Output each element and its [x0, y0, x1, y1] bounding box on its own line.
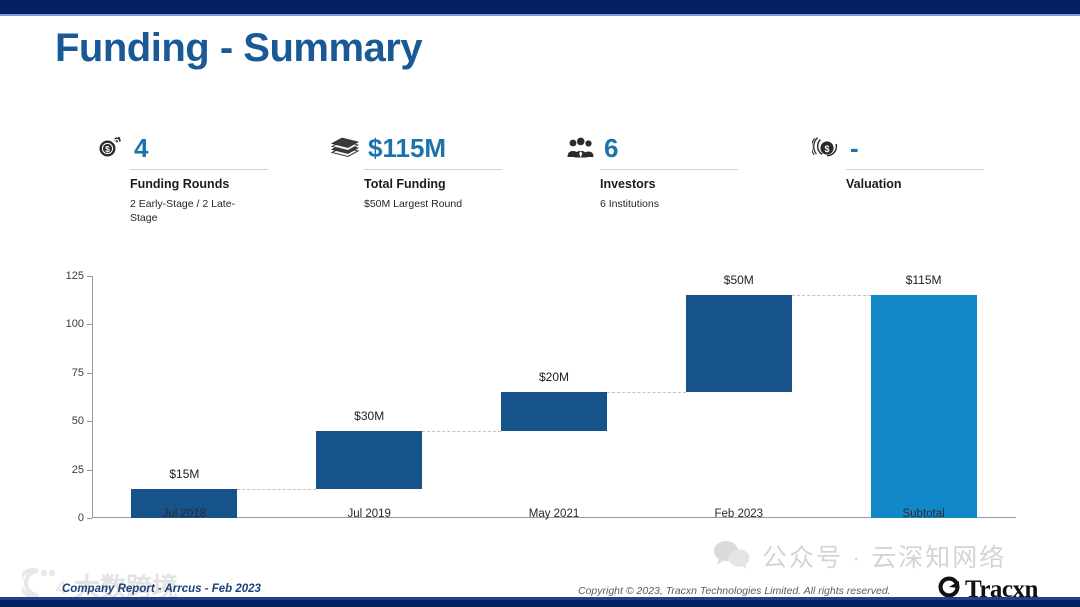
kpi-head: $ - [812, 130, 984, 166]
y-axis-line [92, 276, 93, 518]
wechat-watermark: 公众号 · 云深知网络 [712, 538, 1006, 574]
kpi-valuation: $ - Valuation [812, 130, 984, 197]
chart-bar[interactable] [316, 431, 422, 489]
kpi-funding-rounds: $ 4 Funding Rounds 2 Early-Stage / 2 Lat… [96, 130, 268, 225]
chart-bar-value-label: $20M [539, 370, 569, 384]
gear-dollar-icon: $ [96, 133, 126, 163]
kpi-value: - [850, 135, 859, 161]
x-axis-category-label: Jul 2018 [104, 508, 264, 520]
kpi-head: $115M [330, 130, 502, 166]
kpi-subtext: 2 Early-Stage / 2 Late-Stage [130, 197, 240, 225]
kpi-head: $ 4 [96, 130, 268, 166]
y-axis-tick-label: 125 [66, 270, 84, 282]
kpi-subtext: $50M Largest Round [364, 197, 474, 211]
y-axis-tick [87, 373, 92, 374]
chart-plot-area: 0255075100125$15M$30M$20M$50M$115M [92, 276, 1016, 518]
kpi-label: Investors [600, 177, 738, 191]
investors-people-icon [566, 133, 596, 163]
footer-report-label: Company Report - Arrcus - Feb 2023 [62, 583, 261, 595]
top-navy-band [0, 0, 1080, 14]
waterfall-connector [422, 431, 501, 432]
waterfall-connector [607, 392, 686, 393]
wechat-icon [712, 539, 752, 574]
chart-bar[interactable] [686, 295, 792, 392]
kpi-value: 4 [134, 135, 148, 161]
kpi-label: Valuation [846, 177, 984, 191]
kpi-head: 6 [566, 130, 738, 166]
kpi-subtext: 6 Institutions [600, 197, 710, 211]
kpi-label: Funding Rounds [130, 177, 268, 191]
kpi-divider [130, 169, 268, 170]
x-axis-category-label: Subtotal [844, 508, 1004, 520]
y-axis-tick [87, 276, 92, 277]
y-axis-tick [87, 324, 92, 325]
y-axis-tick-label: 75 [72, 367, 84, 379]
wechat-watermark-text: 公众号 · 云深知网络 [762, 538, 1006, 574]
chart-bar-value-label: $30M [354, 409, 384, 423]
y-axis-tick-label: 25 [72, 464, 84, 476]
kpi-value: $115M [368, 135, 446, 161]
footer-copyright: Copyright © 2023, Tracxn Technologies Li… [578, 585, 891, 597]
y-axis-tick-label: 50 [72, 415, 84, 427]
kpi-divider [364, 169, 502, 170]
chart-bar-value-label: $15M [169, 467, 199, 481]
top-band-hairline [0, 14, 1080, 16]
chart-bar-value-label: $115M [906, 273, 942, 287]
waterfall-connector [792, 295, 871, 296]
kpi-total-funding: $115M Total Funding $50M Largest Round [330, 130, 502, 211]
y-axis-tick-label: 0 [78, 512, 84, 524]
svg-text:$: $ [105, 144, 110, 154]
svg-text:$: $ [824, 144, 829, 154]
chart-bar[interactable] [501, 392, 607, 431]
chart-bar[interactable] [871, 295, 977, 518]
y-axis-tick [87, 518, 92, 519]
slide-canvas: Funding - Summary $ 4 Funding Rounds 2 E… [0, 0, 1080, 607]
y-axis-tick-label: 100 [66, 318, 84, 330]
y-axis-tick [87, 470, 92, 471]
valuation-dollar-circle-icon: $ [812, 133, 842, 163]
x-axis-category-label: May 2021 [474, 508, 634, 520]
kpi-divider [846, 169, 984, 170]
waterfall-connector [237, 489, 316, 490]
kpi-value: 6 [604, 135, 618, 161]
bottom-navy-band [0, 600, 1080, 607]
kpi-divider [600, 169, 738, 170]
kpi-investors: 6 Investors 6 Institutions [566, 130, 738, 211]
x-axis-category-label: Jul 2019 [289, 508, 449, 520]
funding-waterfall-chart: 0255075100125$15M$30M$20M$50M$115M Jul 2… [56, 262, 1016, 540]
money-stack-icon [330, 133, 360, 163]
x-axis-category-label: Feb 2023 [659, 508, 819, 520]
page-title: Funding - Summary [55, 26, 422, 71]
chart-bar-value-label: $50M [724, 273, 754, 287]
kpi-label: Total Funding [364, 177, 502, 191]
y-axis-tick [87, 421, 92, 422]
